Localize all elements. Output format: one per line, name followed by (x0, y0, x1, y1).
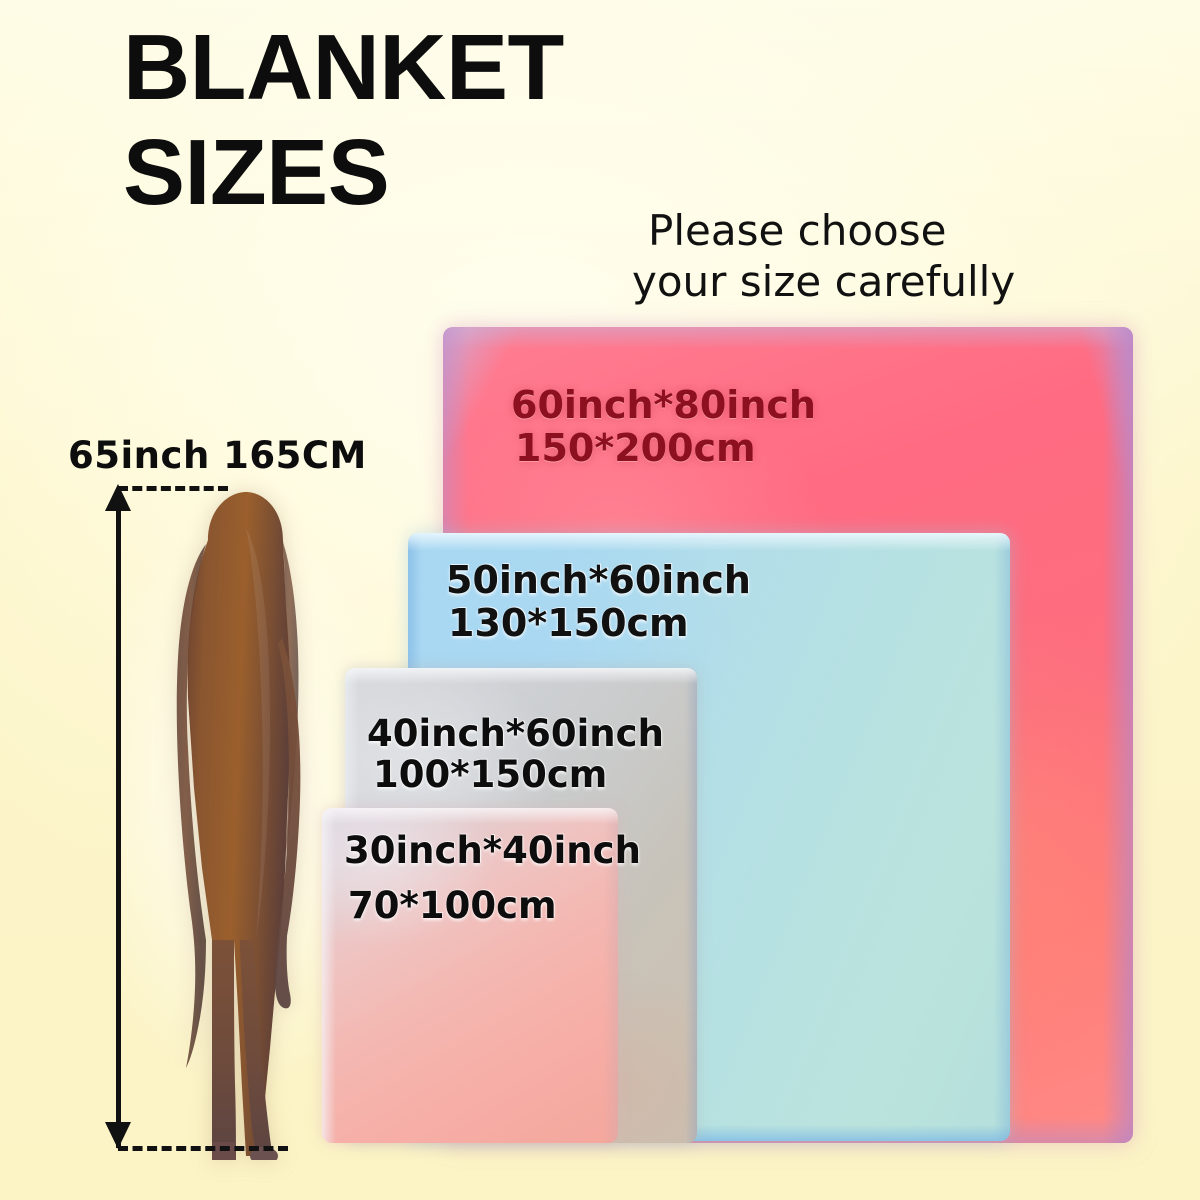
page-title: BLANKET SIZES (123, 22, 763, 218)
blanket-label-30x40-inch: 30inch*40inch (344, 830, 641, 871)
human-silhouette-icon (150, 488, 340, 1160)
blanket-label-40x60-inch: 40inch*60inch (367, 713, 664, 754)
blanket-label-60x80-cm: 150*200cm (511, 427, 816, 470)
dimension-top-dashed-line (118, 486, 228, 491)
height-label: 65inch 165CM (68, 434, 367, 477)
subtitle-line-1: Please choose (630, 205, 1150, 256)
blanket-label-30x40: 30inch*40inch 70*100cm (344, 830, 641, 927)
blanket-label-50x60: 50inch*60inch 130*150cm (446, 559, 751, 644)
blanket-label-60x80: 60inch*80inch 150*200cm (511, 384, 816, 469)
subtitle-line-2: your size carefully (630, 256, 1150, 307)
blanket-label-50x60-inch: 50inch*60inch (446, 559, 751, 602)
blanket-label-60x80-inch: 60inch*80inch (511, 384, 816, 427)
blanket-label-30x40-cm: 70*100cm (344, 885, 641, 926)
arrow-up-icon (105, 484, 131, 511)
blanket-label-40x60-cm: 100*150cm (367, 754, 664, 795)
dimension-line (116, 492, 121, 1148)
blanket-label-40x60: 40inch*60inch 100*150cm (367, 713, 664, 796)
title-line-1: BLANKET (123, 22, 763, 113)
blanket-size-chart: BLANKET SIZES Please choose your size ca… (0, 0, 1200, 1200)
dimension-bottom-dashed-line (118, 1146, 288, 1151)
arrow-down-icon (105, 1122, 131, 1149)
subtitle: Please choose your size carefully (630, 205, 1150, 307)
blanket-label-50x60-cm: 130*150cm (446, 602, 751, 645)
blanket-swatch-30x40[interactable]: 30inch*40inch 70*100cm (322, 808, 618, 1143)
